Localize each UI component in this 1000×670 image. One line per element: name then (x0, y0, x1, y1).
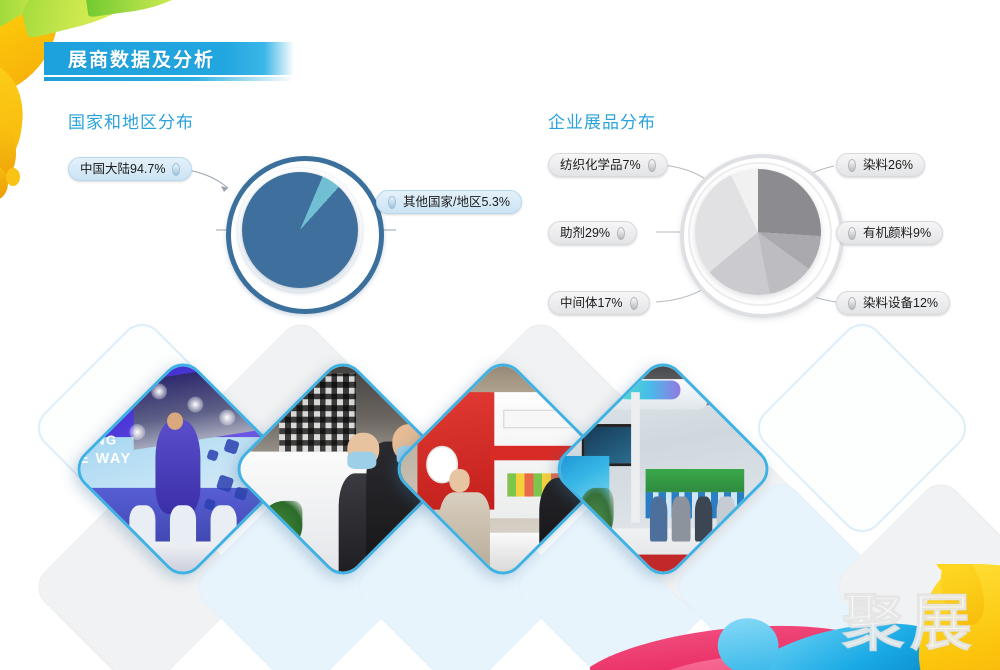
pie-label-organic-pigments: 有机颜料9% (836, 221, 943, 245)
yellow-paint-drip (0, 58, 28, 187)
pie-label-other-regions: 其他国家/地区5.3% (376, 190, 522, 214)
yellow-paint-drip-small (0, 118, 18, 185)
pie-label-auxiliaries: 助剂29% (548, 221, 637, 245)
pie-label-dye-equipment: 染料设备12% (836, 291, 950, 315)
green-leaf-icon (15, 0, 154, 39)
green-leaf-icon (0, 0, 57, 29)
pie-slices-country (242, 172, 358, 288)
pill-connector-dot (172, 163, 180, 176)
poster-page: 展商数据及分析 国家和地区分布 企业展品分布 中国大陆94.7% 其他国家/地区… (0, 0, 1000, 670)
pie-label-dyes: 染料26% (836, 153, 925, 177)
pill-connector-dot (648, 159, 656, 172)
pie-label-mainland: 中国大陆94.7% (68, 157, 192, 181)
yellow-paint-droplet (0, 166, 8, 200)
pill-connector-dot (617, 227, 625, 240)
pill-connector-dot (630, 297, 638, 310)
pill-connector-dot (388, 196, 396, 209)
photo-diamond-strip: ONG E WAY (0, 326, 1000, 626)
section-title-banner: 展商数据及分析 (44, 42, 294, 75)
pie-slices-exhibits (695, 169, 821, 295)
chart-exhibit-distribution: 纺织化学品7% 助剂29% 中间体17% 染料26% 有机颜料9% 染料设备12… (528, 136, 996, 331)
heading-country-distribution: 国家和地区分布 (68, 108, 194, 133)
pill-connector-dot (848, 297, 856, 310)
pie-label-intermediates: 中间体17% (548, 291, 650, 315)
heading-exhibit-distribution: 企业展品分布 (548, 108, 656, 133)
chart-country-distribution: 中国大陆94.7% 其他国家/地区5.3% (40, 140, 510, 325)
yellow-paint-droplet-tiny (6, 168, 20, 186)
title-underline (44, 77, 294, 81)
green-leaf-icon (82, 0, 197, 17)
pie-label-textile-chemicals: 纺织化学品7% (548, 153, 668, 177)
page-title: 展商数据及分析 (44, 45, 215, 72)
pill-connector-dot (848, 227, 856, 240)
pill-connector-dot (848, 159, 856, 172)
